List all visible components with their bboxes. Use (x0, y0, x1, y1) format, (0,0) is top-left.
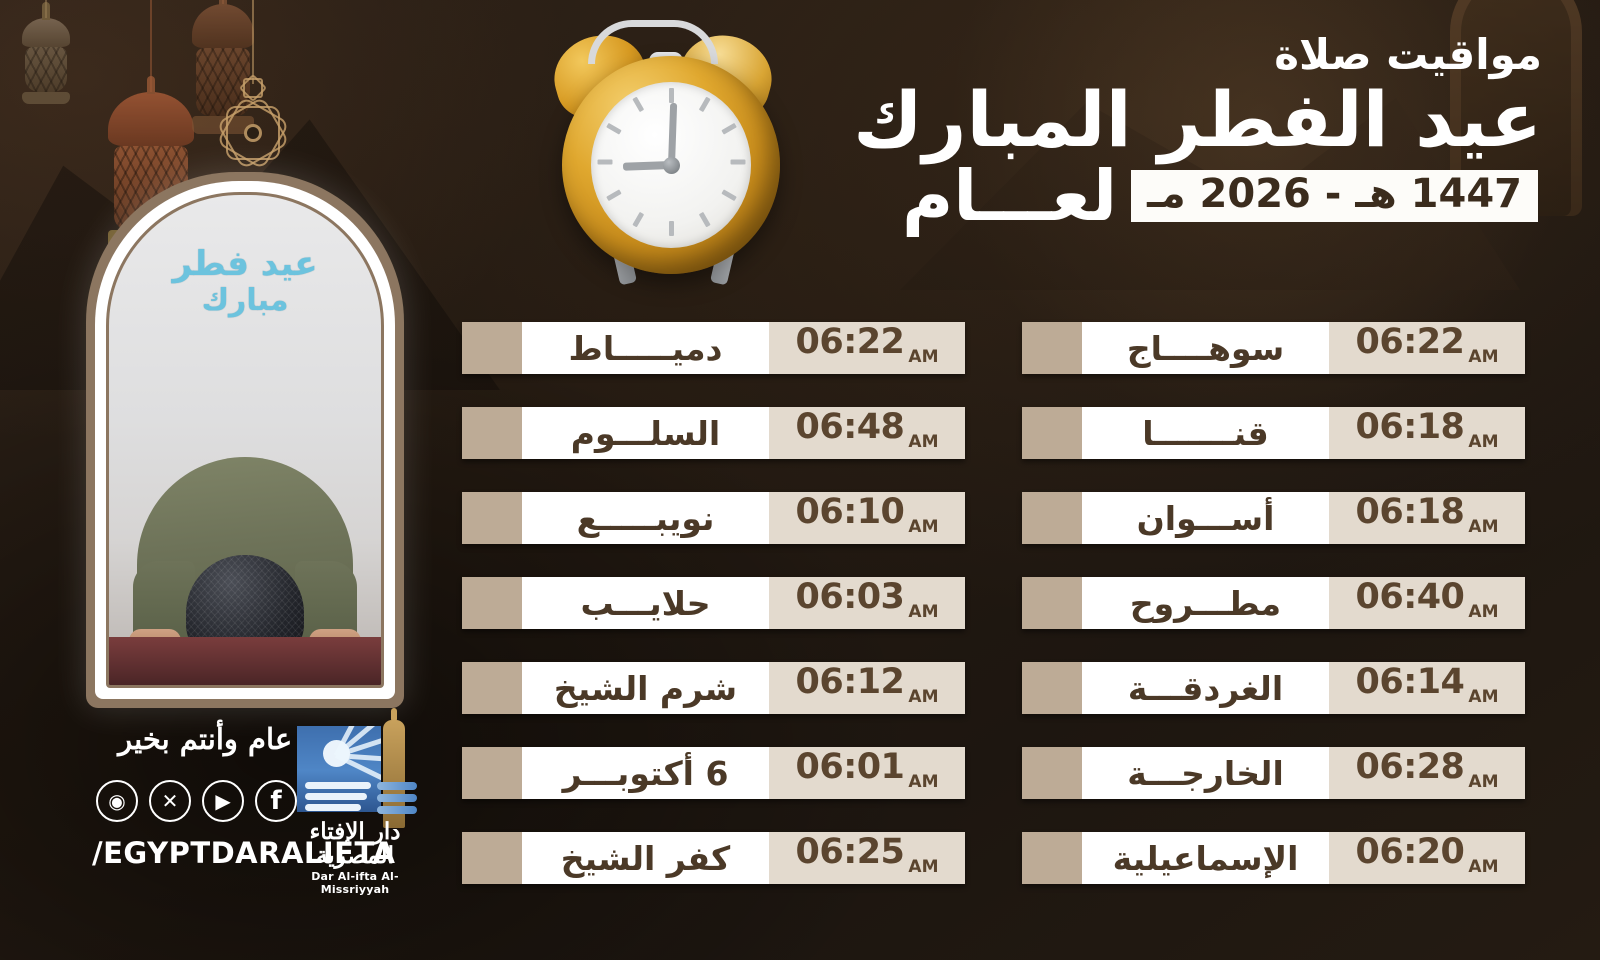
row-end-block (462, 322, 522, 374)
time-value: 06:28 (1356, 747, 1465, 787)
prayer-time: 06:10AM (769, 492, 965, 544)
row-end-block (1022, 577, 1082, 629)
city-name: الغردقـــة (1082, 662, 1329, 714)
prayer-time: 06:20AM (1329, 832, 1525, 884)
time-meridiem: AM (908, 687, 938, 707)
time-meridiem: AM (908, 517, 938, 537)
city-name: مطـــروح (1082, 577, 1329, 629)
footer-brand: كل عام وأنتم بخير f▶✕◉ /EGYPTDARALIFTA د… (86, 718, 416, 888)
time-meridiem: AM (1468, 432, 1498, 452)
row-end-block (462, 492, 522, 544)
logo-english-name: Dar Al-ifta Al-Missriyyah (291, 870, 419, 896)
table-row: السلـــوم06:48AM (462, 407, 965, 459)
city-name: الإسماعيلية (1082, 832, 1329, 884)
time-value: 06:22 (1356, 322, 1465, 362)
time-value: 06:18 (1356, 407, 1465, 447)
city-name: سوهــــاج (1082, 322, 1329, 374)
row-end-block (1022, 662, 1082, 714)
row-end-block (1022, 492, 1082, 544)
prayer-time: 06:22AM (769, 322, 965, 374)
time-meridiem: AM (1468, 857, 1498, 877)
youtube-icon[interactable]: ▶ (202, 780, 244, 822)
city-name: دميـــــاط (522, 322, 769, 374)
dar-al-ifta-logo: دار الإفتاء المصرية Dar Al-ifta Al-Missr… (291, 720, 419, 888)
city-name: نويبـــــع (522, 492, 769, 544)
time-meridiem: AM (1468, 517, 1498, 537)
logo-mark (297, 726, 381, 812)
table-row: الخارجـــة06:28AM (1022, 747, 1525, 799)
city-name: قنـــــــا (1082, 407, 1329, 459)
table-row: سوهــــاج06:22AM (1022, 322, 1525, 374)
time-meridiem: AM (908, 432, 938, 452)
time-meridiem: AM (908, 857, 938, 877)
prayer-time: 06:25AM (769, 832, 965, 884)
prayer-time: 06:40AM (1329, 577, 1525, 629)
table-row: أســـوان06:18AM (1022, 492, 1525, 544)
time-value: 06:12 (796, 662, 905, 702)
table-row: الغردقـــة06:14AM (1022, 662, 1525, 714)
time-meridiem: AM (1468, 772, 1498, 792)
time-value: 06:14 (1356, 662, 1465, 702)
time-value: 06:48 (796, 407, 905, 447)
table-row: كفر الشيخ06:25AM (462, 832, 965, 884)
poster-canvas: عيد فطر مبارك (0, 0, 1600, 960)
social-icons: f▶✕◉ (96, 780, 297, 822)
row-end-block (462, 577, 522, 629)
city-name: الخارجـــة (1082, 747, 1329, 799)
table-row: مطـــروح06:40AM (1022, 577, 1525, 629)
logo-arabic-name: دار الإفتاء المصرية (291, 820, 419, 868)
row-end-block (1022, 747, 1082, 799)
table-row: قنـــــــا06:18AM (1022, 407, 1525, 459)
prayer-time: 06:03AM (769, 577, 965, 629)
time-value: 06:18 (1356, 492, 1465, 532)
times-column-right: سوهــــاج06:22AMقنـــــــا06:18AMأســـوا… (1022, 322, 1525, 917)
row-end-block (1022, 322, 1082, 374)
time-meridiem: AM (1468, 347, 1498, 367)
time-value: 06:20 (1356, 832, 1465, 872)
city-name: كفر الشيخ (522, 832, 769, 884)
time-value: 06:40 (1356, 577, 1465, 617)
prayer-time: 06:14AM (1329, 662, 1525, 714)
prayer-time: 06:01AM (769, 747, 965, 799)
table-row: الإسماعيلية06:20AM (1022, 832, 1525, 884)
time-meridiem: AM (908, 602, 938, 622)
city-name: شرم الشيخ (522, 662, 769, 714)
row-end-block (462, 747, 522, 799)
table-row: حلايـــب06:03AM (462, 577, 965, 629)
time-value: 06:03 (796, 577, 905, 617)
time-meridiem: AM (1468, 687, 1498, 707)
table-row: دميـــــاط06:22AM (462, 322, 965, 374)
row-end-block (462, 407, 522, 459)
row-end-block (1022, 407, 1082, 459)
table-row: شرم الشيخ06:12AM (462, 662, 965, 714)
prayer-time: 06:18AM (1329, 407, 1525, 459)
prayer-time: 06:12AM (769, 662, 965, 714)
time-meridiem: AM (908, 347, 938, 367)
prayer-time: 06:48AM (769, 407, 965, 459)
time-value: 06:22 (796, 322, 905, 362)
time-meridiem: AM (908, 772, 938, 792)
instagram-icon[interactable]: ◉ (96, 780, 138, 822)
row-end-block (462, 662, 522, 714)
prayer-time: 06:28AM (1329, 747, 1525, 799)
city-name: 6 أكتوبـــر (522, 747, 769, 799)
city-name: حلايـــب (522, 577, 769, 629)
prayer-time: 06:22AM (1329, 322, 1525, 374)
row-end-block (462, 832, 522, 884)
table-row: 6 أكتوبـــر06:01AM (462, 747, 965, 799)
city-name: أســـوان (1082, 492, 1329, 544)
time-value: 06:25 (796, 832, 905, 872)
prayer-time: 06:18AM (1329, 492, 1525, 544)
row-end-block (1022, 832, 1082, 884)
city-name: السلـــوم (522, 407, 769, 459)
times-column-left: دميـــــاط06:22AMالسلـــوم06:48AMنويبـــ… (462, 322, 965, 917)
time-value: 06:01 (796, 747, 905, 787)
x-twitter-icon[interactable]: ✕ (149, 780, 191, 822)
table-row: نويبـــــع06:10AM (462, 492, 965, 544)
time-value: 06:10 (796, 492, 905, 532)
time-meridiem: AM (1468, 602, 1498, 622)
